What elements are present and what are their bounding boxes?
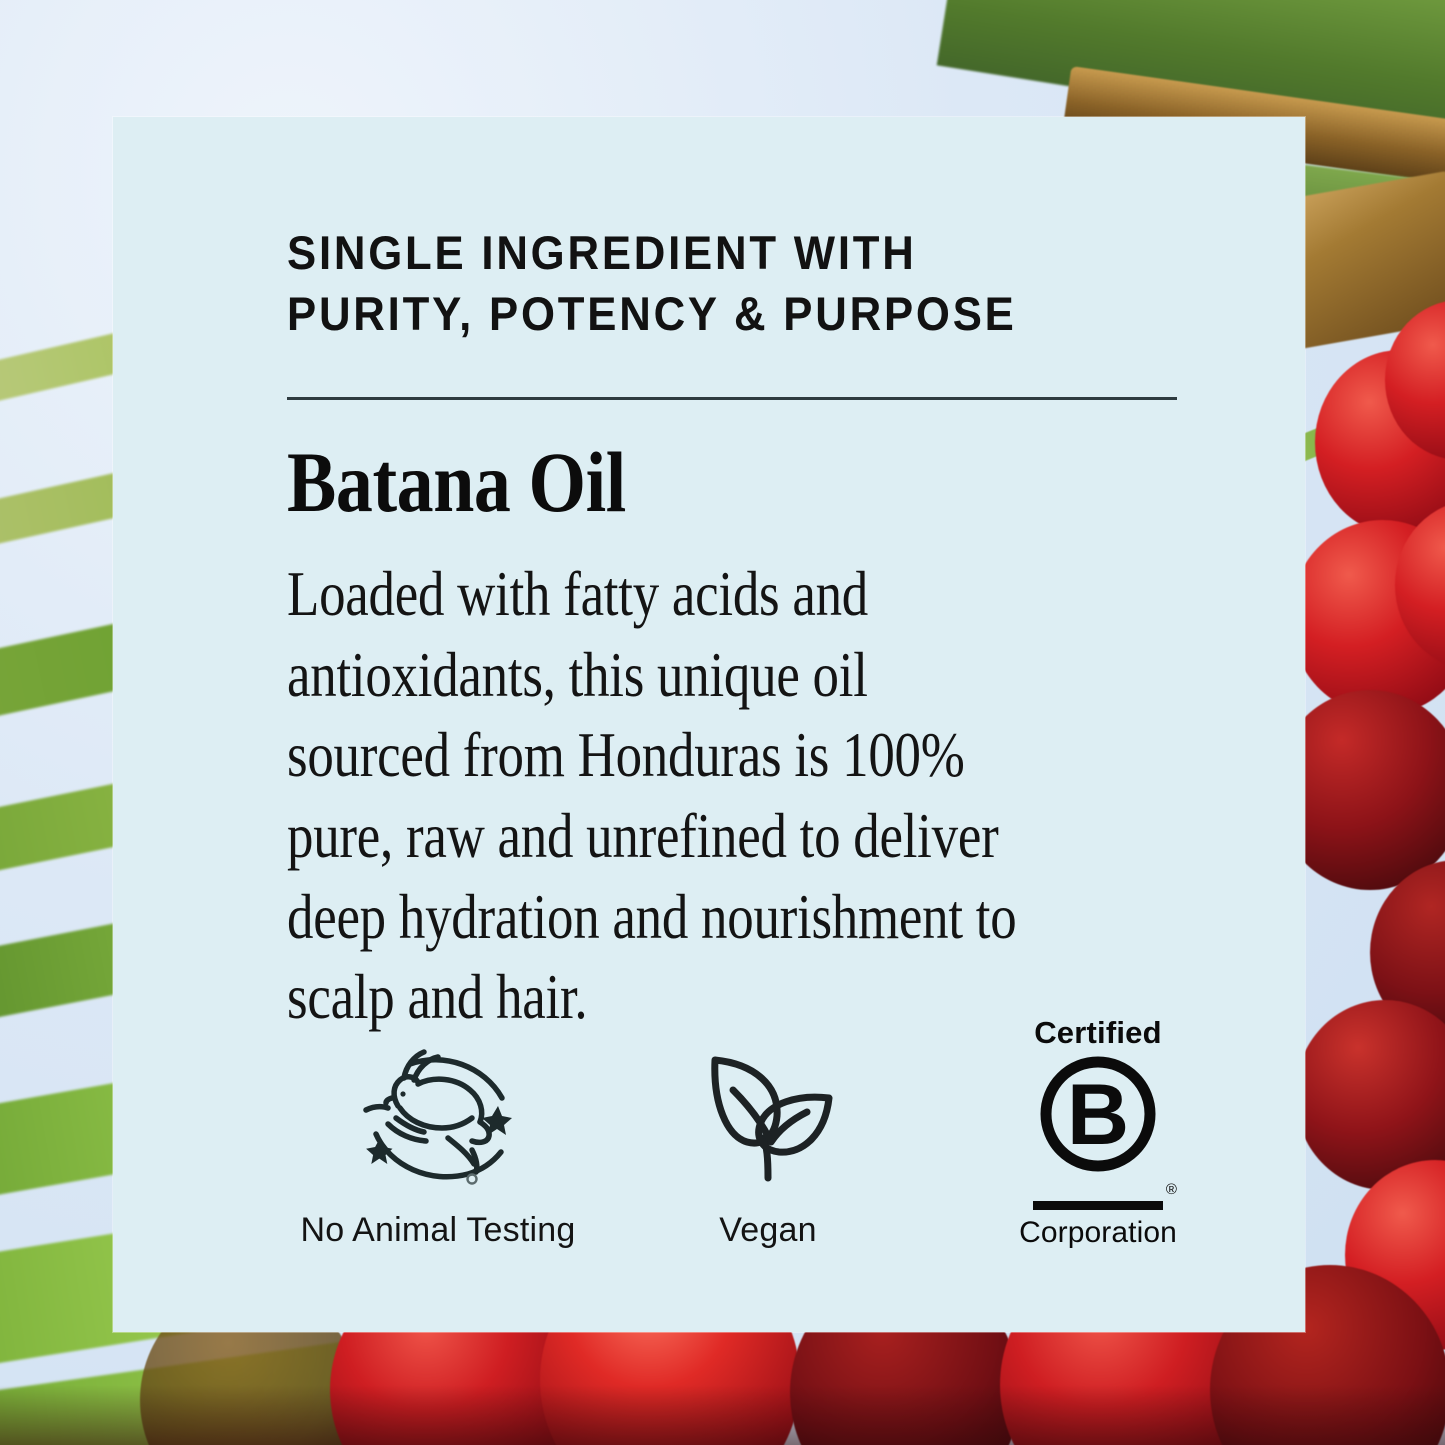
product-callout-image: SINGLE INGREDIENT WITH PURITY, POTENCY &… xyxy=(0,0,1445,1445)
info-card: SINGLE INGREDIENT WITH PURITY, POTENCY &… xyxy=(113,117,1305,1332)
leaping-bunny-icon xyxy=(352,1037,524,1197)
badge-label: No Animal Testing xyxy=(301,1211,576,1250)
badge-label: Vegan xyxy=(719,1211,816,1250)
b-corp-rule xyxy=(1033,1201,1163,1210)
b-corp-circle-b: B xyxy=(1023,1052,1173,1182)
registered-mark: ® xyxy=(1166,1182,1177,1197)
badge-b-corporation: Certified B ® Corporation xyxy=(933,1017,1263,1250)
svg-text:B: B xyxy=(1067,1067,1129,1163)
badge-vegan: Vegan xyxy=(603,1037,933,1250)
b-corp-icon: Certified B ® Corporation xyxy=(1019,1017,1177,1250)
vegan-leaf-icon xyxy=(693,1037,843,1197)
b-corp-corporation-label: Corporation xyxy=(1019,1216,1177,1250)
photo-vignette xyxy=(0,1385,1445,1445)
certification-badges: No Animal Testing Vegan xyxy=(273,1017,1283,1250)
eyebrow-heading: SINGLE INGREDIENT WITH PURITY, POTENCY &… xyxy=(287,222,1143,344)
b-corp-certified-label: Certified xyxy=(1034,1017,1162,1048)
divider xyxy=(287,397,1177,400)
badge-no-animal-testing: No Animal Testing xyxy=(273,1037,603,1250)
product-description: Loaded with fatty acids and antioxidants… xyxy=(287,554,1043,1038)
page-title: Batana Oil xyxy=(287,439,626,525)
